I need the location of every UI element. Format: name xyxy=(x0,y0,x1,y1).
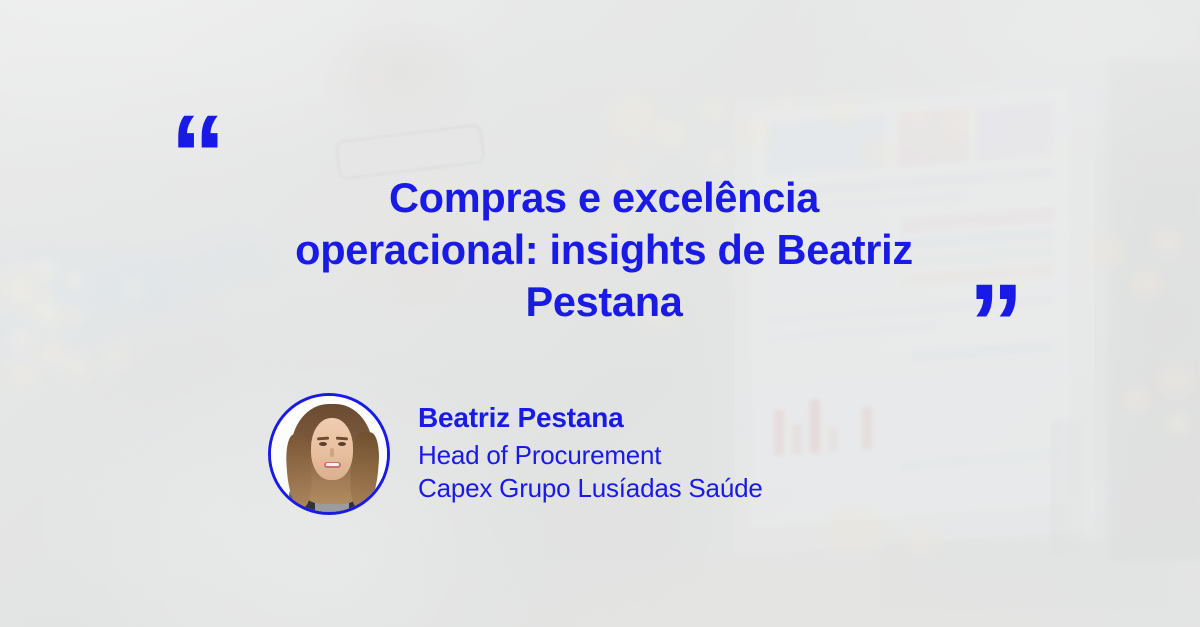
card-content: “ Compras e excelência operacional: insi… xyxy=(0,0,1200,627)
speaker-role: Head of Procurement xyxy=(418,439,763,472)
headline-line-1: Compras e excelência xyxy=(224,172,984,224)
quote-card: “ Compras e excelência operacional: insi… xyxy=(0,0,1200,627)
speaker-details: Beatriz Pestana Head of Procurement Cape… xyxy=(418,404,763,505)
avatar-eye-right xyxy=(338,442,346,446)
avatar-teeth xyxy=(326,463,339,466)
speaker-organization: Capex Grupo Lusíadas Saúde xyxy=(418,472,763,505)
avatar xyxy=(268,393,390,515)
page-title: Compras e excelência operacional: insigh… xyxy=(224,172,984,328)
headline-line-2: operacional: insights de Beatriz xyxy=(224,224,984,276)
avatar-eye-left xyxy=(319,442,327,446)
closing-quote-icon: ” xyxy=(968,268,1022,380)
opening-quote-icon: “ xyxy=(170,99,224,211)
speaker-attribution: Beatriz Pestana Head of Procurement Cape… xyxy=(268,393,763,515)
headline-line-3: Pestana xyxy=(224,276,984,328)
speaker-name: Beatriz Pestana xyxy=(418,404,763,432)
avatar-nose xyxy=(330,448,334,457)
avatar-photo xyxy=(271,396,387,512)
